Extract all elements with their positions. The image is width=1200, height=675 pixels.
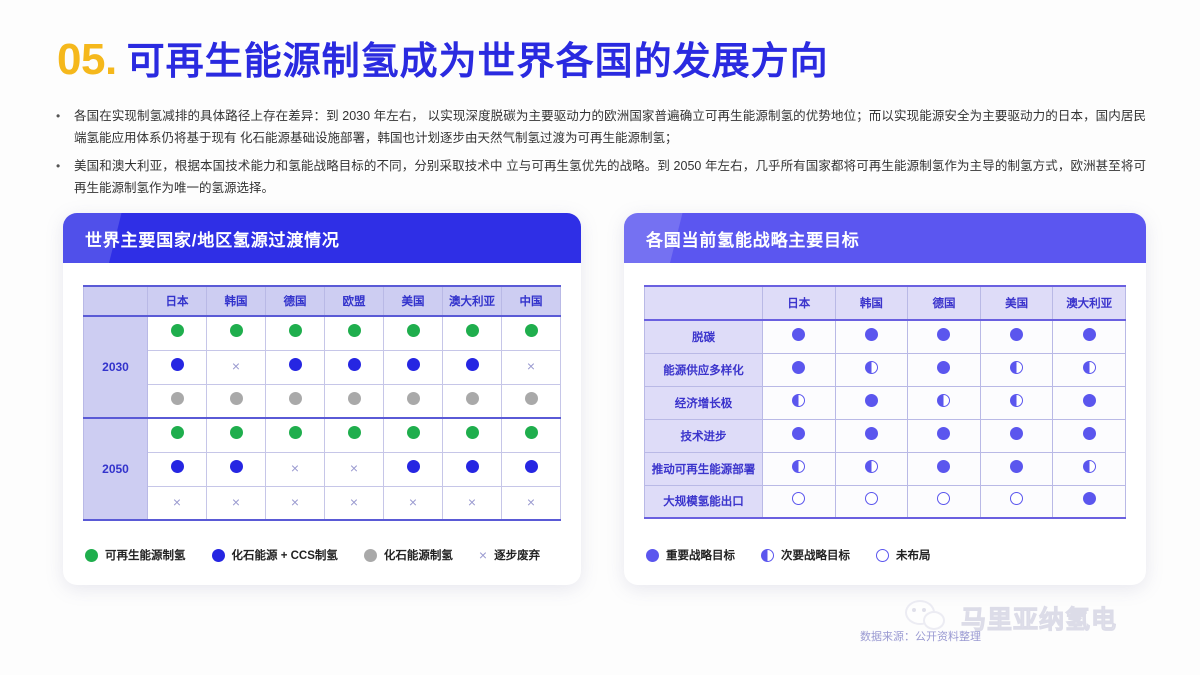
cross-icon: × xyxy=(409,496,417,509)
left-table-wrap: 日本韩国德国欧盟美国澳大利亚中国 2030××2050××××××××× xyxy=(63,263,581,521)
blue-dot-icon xyxy=(171,358,184,371)
half-circle-icon xyxy=(865,460,878,473)
table-row: ××××××× xyxy=(84,486,561,520)
legend-item-1: 化石能源 + CCS制氢 xyxy=(212,547,338,563)
title-text: 可再生能源制氢成为世界各国的发展方向 xyxy=(127,30,829,85)
full-circle-icon xyxy=(792,361,805,374)
cell-2030-3 xyxy=(325,316,384,350)
row-label-2: 经济增长极 xyxy=(645,386,763,419)
watermark-text: 马里亚纳氢电 xyxy=(961,600,1117,636)
gray-dot-icon xyxy=(171,392,184,405)
row-label-0: 脱碳 xyxy=(645,320,763,353)
legend-left: 可再生能源制氢化石能源 + CCS制氢化石能源制氢×逐步废弃 xyxy=(85,547,540,563)
cross-icon: × xyxy=(527,496,535,509)
cell-2030-5 xyxy=(443,350,502,384)
cross-icon: × xyxy=(291,496,299,509)
half-circle-icon xyxy=(937,394,950,407)
bullet-dot-icon: • xyxy=(56,105,64,149)
cell-2030-6 xyxy=(502,316,561,350)
full-circle-icon xyxy=(1010,460,1023,473)
full-circle-icon xyxy=(1083,328,1096,341)
cell-2-0 xyxy=(763,386,836,419)
slide-root: 05. 可再生能源制氢成为世界各国的发展方向 • 各国在实现制氢减排的具体路径上… xyxy=(0,0,1200,675)
cross-icon: × xyxy=(468,496,476,509)
table-head: 日本韩国德国美国澳大利亚 xyxy=(645,286,1126,320)
column-header-2: 德国 xyxy=(266,286,325,316)
card-title: 各国当前氢能战略主要目标 xyxy=(646,226,860,251)
column-header-3: 欧盟 xyxy=(325,286,384,316)
cell-2050-4 xyxy=(384,418,443,452)
cell-2050-2 xyxy=(266,418,325,452)
green-dot-icon xyxy=(466,426,479,439)
gray-dot-icon xyxy=(525,392,538,405)
cell-2050-5 xyxy=(443,418,502,452)
green-dot-icon xyxy=(230,426,243,439)
cell-2050-2: × xyxy=(266,452,325,486)
cell-2-1 xyxy=(835,386,908,419)
cell-2050-1 xyxy=(207,452,266,486)
half-circle-icon xyxy=(792,394,805,407)
wechat-icon xyxy=(905,600,951,636)
green-dot-icon xyxy=(289,426,302,439)
full-circle-icon xyxy=(792,427,805,440)
cross-icon: × xyxy=(291,462,299,475)
cell-2030-5 xyxy=(443,316,502,350)
cell-1-1 xyxy=(835,353,908,386)
half-circle-icon xyxy=(1083,361,1096,374)
table-row: ×× xyxy=(84,452,561,486)
table-body: 2030××2050××××××××× xyxy=(84,316,561,520)
cell-2030-3 xyxy=(325,384,384,418)
legend-label: 未布局 xyxy=(896,547,931,563)
blue-dot-icon xyxy=(407,460,420,473)
cell-2030-0 xyxy=(148,350,207,384)
green-dot-icon xyxy=(525,426,538,439)
empty-circle-icon xyxy=(937,492,950,505)
table-row: 脱碳 xyxy=(645,320,1126,353)
bullet-list: • 各国在实现制氢减排的具体路径上存在差异：到 2030 年左右， 以实现深度脱… xyxy=(56,105,1146,205)
half-circle-icon xyxy=(792,460,805,473)
full-circle-icon xyxy=(1010,328,1023,341)
cell-2030-0 xyxy=(148,316,207,350)
full-circle-icon xyxy=(792,328,805,341)
cell-4-1 xyxy=(835,452,908,485)
cell-2030-4 xyxy=(384,384,443,418)
column-header-0: 日本 xyxy=(148,286,207,316)
cell-0-0 xyxy=(763,320,836,353)
row-label-1: 能源供应多样化 xyxy=(645,353,763,386)
cell-2050-4 xyxy=(384,452,443,486)
page-title: 05. 可再生能源制氢成为世界各国的发展方向 xyxy=(57,30,829,85)
cell-5-0 xyxy=(763,485,836,518)
cross-icon: × xyxy=(232,496,240,509)
cross-icon: × xyxy=(350,496,358,509)
green-dot-icon xyxy=(348,324,361,337)
cell-2030-6: × xyxy=(502,350,561,384)
full-circle-icon xyxy=(865,427,878,440)
table-head: 日本韩国德国欧盟美国澳大利亚中国 xyxy=(84,286,561,316)
half-circle-icon xyxy=(1010,394,1023,407)
cell-0-4 xyxy=(1053,320,1126,353)
legend-item-0: 重要战略目标 xyxy=(646,547,735,563)
half-circle-icon xyxy=(1083,460,1096,473)
half-circle-icon xyxy=(761,549,774,562)
green-dot-icon xyxy=(525,324,538,337)
cell-2050-6 xyxy=(502,418,561,452)
cell-1-4 xyxy=(1053,353,1126,386)
cell-2030-6 xyxy=(502,384,561,418)
right-table-wrap: 日本韩国德国美国澳大利亚 脱碳能源供应多样化经济增长极技术进步推动可再生能源部署… xyxy=(624,263,1146,519)
empty-circle-icon xyxy=(865,492,878,505)
cell-2050-2: × xyxy=(266,486,325,520)
cell-4-0 xyxy=(763,452,836,485)
table-corner-cell xyxy=(645,286,763,320)
legend-label: 化石能源制氢 xyxy=(384,547,453,563)
full-circle-icon xyxy=(1083,492,1096,505)
empty-circle-icon xyxy=(1010,492,1023,505)
cell-0-2 xyxy=(908,320,981,353)
full-circle-icon xyxy=(1010,427,1023,440)
column-header-1: 韩国 xyxy=(207,286,266,316)
table-row xyxy=(84,384,561,418)
cell-2050-6: × xyxy=(502,486,561,520)
legend-label: 重要战略目标 xyxy=(666,547,735,563)
blue-dot-icon xyxy=(171,460,184,473)
green-dot-icon xyxy=(289,324,302,337)
legend-item-1: 次要战略目标 xyxy=(761,547,850,563)
empty-circle-icon xyxy=(792,492,805,505)
cross-icon: × xyxy=(350,462,358,475)
column-header-3: 美国 xyxy=(980,286,1053,320)
watermark: 马里亚纳氢电 xyxy=(905,600,1117,636)
blue-dot-icon xyxy=(230,460,243,473)
cell-2030-1 xyxy=(207,316,266,350)
cell-2050-1 xyxy=(207,418,266,452)
table-row: 2030 xyxy=(84,316,561,350)
full-circle-icon xyxy=(1083,427,1096,440)
table-row: 2050 xyxy=(84,418,561,452)
cell-1-3 xyxy=(980,353,1053,386)
cell-4-3 xyxy=(980,452,1053,485)
cell-4-4 xyxy=(1053,452,1126,485)
green-dot-icon xyxy=(171,324,184,337)
cell-2030-3 xyxy=(325,350,384,384)
gray-dot-icon xyxy=(348,392,361,405)
green-dot-icon xyxy=(348,426,361,439)
card-strategy-goals: 各国当前氢能战略主要目标 日本韩国德国美国澳大利亚 脱碳能源供应多样化经济增长极… xyxy=(624,213,1146,585)
half-circle-icon xyxy=(865,361,878,374)
blue-dot-icon xyxy=(466,460,479,473)
green-dot-icon xyxy=(85,549,98,562)
cell-2030-2 xyxy=(266,316,325,350)
cell-2050-3: × xyxy=(325,452,384,486)
bullet-text: 各国在实现制氢减排的具体路径上存在差异：到 2030 年左右， 以实现深度脱碳为… xyxy=(74,105,1146,149)
empty-circle-icon xyxy=(876,549,889,562)
cell-2-2 xyxy=(908,386,981,419)
blue-dot-icon xyxy=(525,460,538,473)
cell-0-3 xyxy=(980,320,1053,353)
green-dot-icon xyxy=(230,324,243,337)
table-body: 脱碳能源供应多样化经济增长极技术进步推动可再生能源部署大规模氢能出口 xyxy=(645,320,1126,518)
legend-item-0: 可再生能源制氢 xyxy=(85,547,186,563)
column-header-0: 日本 xyxy=(763,286,836,320)
green-dot-icon xyxy=(171,426,184,439)
cell-0-1 xyxy=(835,320,908,353)
cell-5-2 xyxy=(908,485,981,518)
legend-item-3: ×逐步废弃 xyxy=(479,547,540,563)
full-circle-icon xyxy=(865,394,878,407)
cell-2050-5 xyxy=(443,452,502,486)
list-item: • 美国和澳大利亚，根据本国技术能力和氢能战略目标的不同，分别采取技术中 立与可… xyxy=(56,155,1146,199)
green-dot-icon xyxy=(407,426,420,439)
bullet-dot-icon: • xyxy=(56,155,64,199)
year-label-2050: 2050 xyxy=(84,418,148,520)
cell-1-2 xyxy=(908,353,981,386)
legend-label: 化石能源 + CCS制氢 xyxy=(232,547,338,563)
cell-3-0 xyxy=(763,419,836,452)
legend-label: 可再生能源制氢 xyxy=(105,547,186,563)
cell-5-4 xyxy=(1053,485,1126,518)
column-header-4: 美国 xyxy=(384,286,443,316)
cell-5-3 xyxy=(980,485,1053,518)
full-circle-icon xyxy=(937,361,950,374)
cell-2030-4 xyxy=(384,350,443,384)
legend-label: 逐步废弃 xyxy=(494,547,540,563)
cell-2050-5: × xyxy=(443,486,502,520)
cell-2030-4 xyxy=(384,316,443,350)
column-header-4: 澳大利亚 xyxy=(1053,286,1126,320)
row-label-4: 推动可再生能源部署 xyxy=(645,452,763,485)
cell-3-3 xyxy=(980,419,1053,452)
bullet-text: 美国和澳大利亚，根据本国技术能力和氢能战略目标的不同，分别采取技术中 立与可再生… xyxy=(74,155,1146,199)
cell-5-1 xyxy=(835,485,908,518)
blue-dot-icon xyxy=(466,358,479,371)
cell-3-4 xyxy=(1053,419,1126,452)
list-item: • 各国在实现制氢减排的具体路径上存在差异：到 2030 年左右， 以实现深度脱… xyxy=(56,105,1146,149)
blue-dot-icon xyxy=(289,358,302,371)
legend-right: 重要战略目标次要战略目标未布局 xyxy=(646,547,931,563)
blue-dot-icon xyxy=(212,549,225,562)
cell-2-3 xyxy=(980,386,1053,419)
cross-icon: × xyxy=(232,360,240,373)
cell-1-0 xyxy=(763,353,836,386)
gray-dot-icon xyxy=(289,392,302,405)
gray-dot-icon xyxy=(466,392,479,405)
cross-icon: × xyxy=(479,549,487,562)
cell-2050-3 xyxy=(325,418,384,452)
half-circle-icon xyxy=(1010,361,1023,374)
cell-2050-0: × xyxy=(148,486,207,520)
gray-dot-icon xyxy=(407,392,420,405)
legend-label: 次要战略目标 xyxy=(781,547,850,563)
card-title: 世界主要国家/地区氢源过渡情况 xyxy=(85,226,340,251)
cell-2030-1 xyxy=(207,384,266,418)
blue-dot-icon xyxy=(407,358,420,371)
cell-2050-0 xyxy=(148,452,207,486)
cell-2050-6 xyxy=(502,452,561,486)
green-dot-icon xyxy=(466,324,479,337)
row-label-3: 技术进步 xyxy=(645,419,763,452)
table-row: 经济增长极 xyxy=(645,386,1126,419)
cell-2050-1: × xyxy=(207,486,266,520)
cell-3-1 xyxy=(835,419,908,452)
legend-item-2: 未布局 xyxy=(876,547,931,563)
card-header-left: 世界主要国家/地区氢源过渡情况 xyxy=(63,213,581,263)
table-header-row: 日本韩国德国欧盟美国澳大利亚中国 xyxy=(84,286,561,316)
column-header-2: 德国 xyxy=(908,286,981,320)
cell-2-4 xyxy=(1053,386,1126,419)
table-header-row: 日本韩国德国美国澳大利亚 xyxy=(645,286,1126,320)
year-label-2030: 2030 xyxy=(84,316,148,418)
table-row: 技术进步 xyxy=(645,419,1126,452)
table-row: 能源供应多样化 xyxy=(645,353,1126,386)
card-header-right: 各国当前氢能战略主要目标 xyxy=(624,213,1146,263)
full-circle-icon xyxy=(646,549,659,562)
table-hydrogen-transition: 日本韩国德国欧盟美国澳大利亚中国 2030××2050××××××××× xyxy=(83,285,561,521)
cell-2050-3: × xyxy=(325,486,384,520)
cell-4-2 xyxy=(908,452,981,485)
cell-2030-5 xyxy=(443,384,502,418)
blue-dot-icon xyxy=(348,358,361,371)
cell-2030-1: × xyxy=(207,350,266,384)
table-row: ×× xyxy=(84,350,561,384)
full-circle-icon xyxy=(937,460,950,473)
table-strategy-goals: 日本韩国德国美国澳大利亚 脱碳能源供应多样化经济增长极技术进步推动可再生能源部署… xyxy=(644,285,1126,519)
cross-icon: × xyxy=(527,360,535,373)
legend-item-2: 化石能源制氢 xyxy=(364,547,453,563)
row-label-5: 大规模氢能出口 xyxy=(645,485,763,518)
gray-dot-icon xyxy=(364,549,377,562)
title-number: 05. xyxy=(57,35,117,85)
gray-dot-icon xyxy=(230,392,243,405)
cell-3-2 xyxy=(908,419,981,452)
cross-icon: × xyxy=(173,496,181,509)
full-circle-icon xyxy=(865,328,878,341)
column-header-1: 韩国 xyxy=(835,286,908,320)
column-header-5: 澳大利亚 xyxy=(443,286,502,316)
cell-2050-4: × xyxy=(384,486,443,520)
table-row: 推动可再生能源部署 xyxy=(645,452,1126,485)
cell-2030-2 xyxy=(266,350,325,384)
full-circle-icon xyxy=(1083,394,1096,407)
table-row: 大规模氢能出口 xyxy=(645,485,1126,518)
card-hydrogen-transition: 世界主要国家/地区氢源过渡情况 日本韩国德国欧盟美国澳大利亚中国 2030××2… xyxy=(63,213,581,585)
table-corner-cell xyxy=(84,286,148,316)
cell-2030-0 xyxy=(148,384,207,418)
column-header-6: 中国 xyxy=(502,286,561,316)
cell-2050-0 xyxy=(148,418,207,452)
cell-2030-2 xyxy=(266,384,325,418)
full-circle-icon xyxy=(937,427,950,440)
full-circle-icon xyxy=(937,328,950,341)
green-dot-icon xyxy=(407,324,420,337)
